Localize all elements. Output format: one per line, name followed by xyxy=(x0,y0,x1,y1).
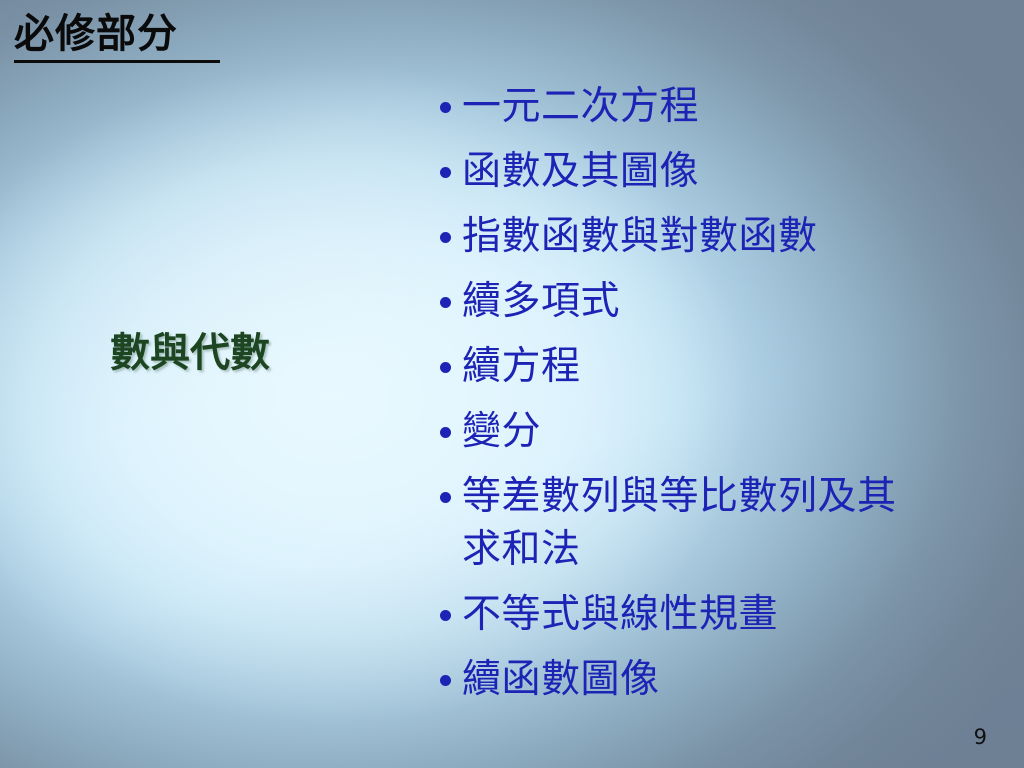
list-item: 一元二次方程 xyxy=(440,80,980,133)
list-item-label: 續函數圖像 xyxy=(462,653,980,706)
list-item-label: 等差數列與等比數列及其求和法 xyxy=(462,470,932,576)
list-item: 等差數列與等比數列及其求和法 xyxy=(440,470,980,576)
bullet-dot-icon xyxy=(440,167,451,178)
bullet-dot-icon xyxy=(440,675,451,686)
topic-bullet-list: 一元二次方程 函數及其圖像 指數函數與對數函數 續多項式 續方程 變分 等差數列… xyxy=(440,80,980,718)
bullet-dot-icon xyxy=(440,232,451,243)
list-item: 變分 xyxy=(440,405,980,458)
list-item-label: 函數及其圖像 xyxy=(462,145,980,198)
bullet-dot-icon xyxy=(440,427,451,438)
list-item-label: 指數函數與對數函數 xyxy=(462,210,980,263)
page-number: 9 xyxy=(974,724,987,750)
slide-title: 必修部分 xyxy=(14,8,178,60)
list-item-label: 續方程 xyxy=(462,340,980,393)
category-label: 數與代數 xyxy=(60,327,320,379)
list-item: 續方程 xyxy=(440,340,980,393)
list-item-label: 一元二次方程 xyxy=(462,80,980,133)
bullet-dot-icon xyxy=(440,297,451,308)
bullet-dot-icon xyxy=(440,492,451,503)
list-item: 不等式與線性規畫 xyxy=(440,588,980,641)
list-item: 函數及其圖像 xyxy=(440,145,980,198)
presentation-slide: 必修部分 數與代數 一元二次方程 函數及其圖像 指數函數與對數函數 續多項式 續… xyxy=(0,0,1024,768)
bullet-dot-icon xyxy=(440,362,451,373)
list-item: 指數函數與對數函數 xyxy=(440,210,980,263)
list-item-label: 不等式與線性規畫 xyxy=(462,588,980,641)
list-item: 續函數圖像 xyxy=(440,653,980,706)
title-underline xyxy=(14,60,220,63)
list-item: 續多項式 xyxy=(440,275,980,328)
bullet-dot-icon xyxy=(440,610,451,621)
list-item-label: 續多項式 xyxy=(462,275,980,328)
bullet-dot-icon xyxy=(440,102,451,113)
list-item-label: 變分 xyxy=(462,405,980,458)
